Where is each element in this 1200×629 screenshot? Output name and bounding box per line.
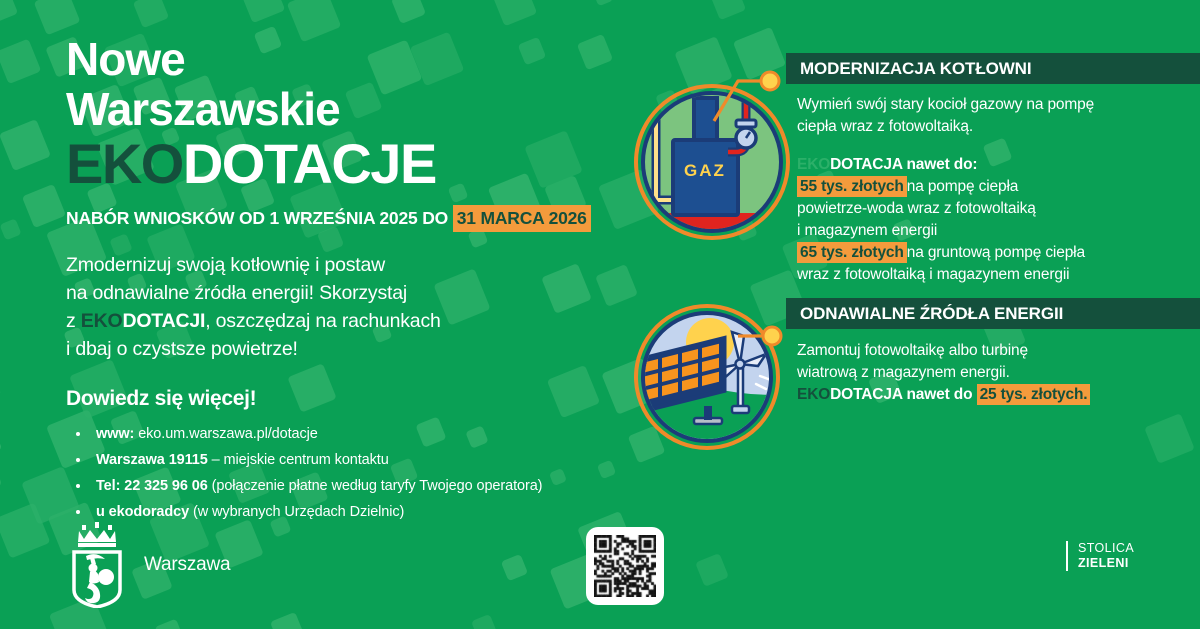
contact-value: (połączenie płatne według taryfy Twojego… [208,478,543,494]
boiler-gaz-label: GAZ [684,161,726,180]
application-period: NABÓR WNIOSKÓW OD 1 WRZEŚNIA 2025 DO 31 … [66,208,666,229]
grant-amount-1-row: 55 tys. złotychna pompę ciepła [797,176,1197,198]
lead-line-1: Zmodernizuj swoją kotłownię i postaw [66,251,666,279]
stolica-zieleni-logo: STOLICA ZIELENI [1066,541,1134,571]
block-header-modernizacja: MODERNIZACJA KOTŁOWNI [786,53,1200,84]
grant-amount-1: 25 tys. złotych. [977,384,1091,405]
lead-dotacji: DOTACJI [122,310,205,332]
grant-amount-2-desc-1: na gruntową pompę ciepła [907,244,1085,261]
grant-amount-1: 55 tys. złotych [797,176,907,197]
lead-line-3-post: , oszczędzaj na rachunkach [205,310,440,332]
left-column: Nowe Warszawskie EKODOTACJE NABÓR WNIOSK… [66,34,666,527]
contact-item[interactable]: Warszawa 19115 – miejskie centrum kontak… [66,449,666,471]
block-header-label: MODERNIZACJA KOTŁOWNI [800,59,1031,79]
contact-item[interactable]: Tel: 22 325 96 06 (połączenie płatne wed… [66,475,666,497]
title-dotacje: DOTACJE [183,132,436,195]
qr-code-canvas[interactable] [594,535,656,597]
intro-line-1: Zamontuj fotowoltaikę albo turbinę [797,340,1197,362]
title-line-3: EKODOTACJE [66,134,666,194]
slogan-line-1: STOLICA [1078,541,1134,556]
grant-amount-1-desc-1: na pompę ciepła [907,178,1019,195]
lead-line-4: i dbaj o czystsze powietrze! [66,335,666,363]
lead-line-3-pre: z [66,310,81,332]
bullet-icon [76,458,80,462]
warszawa-logo: Warszawa [66,522,230,608]
grant-eko: EKO [797,386,830,403]
connector-line-1 [700,55,790,125]
bullet-icon [76,510,80,514]
bullet-icon [76,432,80,436]
lead-eko: EKO [81,310,123,332]
learn-more-heading: Dowiedz się więcej! [66,387,666,411]
grant-rest: DOTACJA nawet do: [830,156,977,173]
bullet-icon [76,484,80,488]
contact-value: (w wybranych Urzędach Dzielnic) [189,504,404,520]
title-eko: EKO [66,132,183,195]
warszawa-coat-of-arms-icon [66,522,128,608]
contact-label: u ekodoradcy [96,504,189,520]
grant-amount-2: 65 tys. złotych [797,242,907,263]
lead-line-2: na odnawialne źródła energii! Skorzystaj [66,279,666,307]
poster-canvas: Nowe Warszawskie EKODOTACJE NABÓR WNIOSK… [0,0,1200,629]
lead-line-3: z EKODOTACJI, oszczędzaj na rachunkach [66,307,666,335]
grant-rest: DOTACJA nawet do [830,386,976,403]
lead-paragraph: Zmodernizuj swoją kotłownię i postaw na … [66,251,666,363]
grant-heading: EKODOTACJA nawet do 25 tys. złotych. [797,384,1197,406]
qr-code[interactable] [586,527,664,605]
grant-amount-2-row: 65 tys. złotychna gruntową pompę ciepła [797,242,1197,264]
grant-amount-1-desc-3: i magazynem energii [797,220,1197,242]
intro-line-2: wiatrową z magazynem energii. [797,362,1197,384]
contact-value: eko.um.warszawa.pl/dotacje [134,426,317,442]
block-body-oze: Zamontuj fotowoltaikę albo turbinę wiatr… [797,340,1197,406]
contact-item[interactable]: u ekodoradcy (w wybranych Urzędach Dziel… [66,501,666,523]
block-header-oze: ODNAWIALNE ŹRÓDŁA ENERGII [786,298,1200,329]
page-title: Nowe Warszawskie EKODOTACJE [66,34,666,194]
application-period-deadline: 31 MARCA 2026 [453,205,591,232]
contact-label: Tel: 22 325 96 06 [96,478,208,494]
contact-label: www: [96,426,134,442]
contact-item[interactable]: www: eko.um.warszawa.pl/dotacje [66,423,666,445]
intro-line-2: ciepła wraz z fotowoltaiką. [797,116,1197,138]
title-line-2: Warszawskie [66,84,666,134]
grant-amount-2-desc-2: wraz z fotowoltaiką i magazynem energii [797,264,1197,286]
slogan-line-2: ZIELENI [1078,556,1134,571]
contact-value: – miejskie centrum kontaktu [208,452,389,468]
warszawa-logo-label: Warszawa [144,554,230,576]
grant-amount-1-desc-2: powietrze-woda wraz z fotowoltaiką [797,198,1197,220]
application-period-prefix: NABÓR WNIOSKÓW OD 1 WRZEŚNIA 2025 DO [66,208,453,228]
intro-line-1: Wymień swój stary kocioł gazowy na pompę [797,94,1197,116]
block-body-modernizacja: Wymień swój stary kocioł gazowy na pompę… [797,94,1197,286]
title-line-1: Nowe [66,34,666,84]
block-header-label: ODNAWIALNE ŹRÓDŁA ENERGII [800,304,1063,324]
contact-list: www: eko.um.warszawa.pl/dotacjeWarszawa … [66,423,666,523]
grant-eko: EKO [797,156,830,173]
grant-heading: EKODOTACJA nawet do: [797,154,1197,176]
contact-label: Warszawa 19115 [96,452,208,468]
